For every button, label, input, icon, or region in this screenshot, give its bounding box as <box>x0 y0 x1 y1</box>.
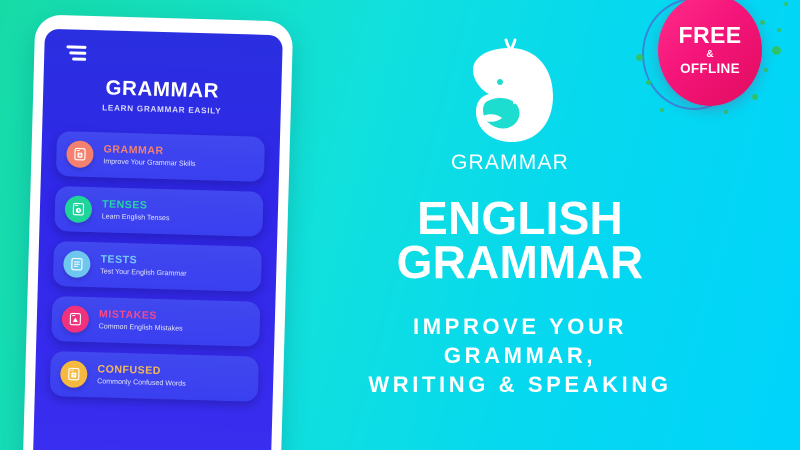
hamburger-line <box>72 58 86 61</box>
hamburger-line <box>69 52 86 55</box>
subhead-line-1: IMPROVE YOUR <box>342 312 698 341</box>
decor-dot <box>724 110 728 114</box>
list-item[interactable]: ? CONFUSED Commonly Confused Words <box>50 351 259 402</box>
list-item-text: TESTS Test Your English Grammar <box>100 254 187 278</box>
svg-text:?: ? <box>72 373 75 378</box>
headline-line-1: ENGLISH <box>350 196 690 240</box>
promo-banner: GRAMMAR LEARN GRAMMAR EASILY A GRAMMAR <box>0 0 800 450</box>
list-item[interactable]: TENSES Learn English Tenses <box>54 186 263 237</box>
phone-mockup: GRAMMAR LEARN GRAMMAR EASILY A GRAMMAR <box>22 14 293 450</box>
decor-dot <box>752 94 758 100</box>
decor-dot <box>660 108 664 112</box>
decor-dot <box>636 54 643 61</box>
decor-dot <box>760 20 765 25</box>
page-subtitle: IMPROVE YOUR GRAMMAR, WRITING & SPEAKING <box>342 312 698 399</box>
subhead-line-3: WRITING & SPEAKING <box>342 370 698 399</box>
book-lines-icon <box>63 250 91 278</box>
headline-line-2: GRAMMAR <box>350 240 690 284</box>
hamburger-line <box>66 45 86 48</box>
list-item-text: TENSES Learn English Tenses <box>102 199 170 223</box>
list-item-desc: Test Your English Grammar <box>100 267 187 278</box>
list-item[interactable]: TESTS Test Your English Grammar <box>53 241 262 292</box>
book-clock-icon <box>65 195 93 223</box>
list-item-text: CONFUSED Commonly Confused Words <box>97 364 186 388</box>
list-item-desc: Common English Mistakes <box>99 322 183 333</box>
decor-dot <box>784 2 788 6</box>
list-item-title: TENSES <box>102 199 170 213</box>
list-item-text: GRAMMAR Improve Your Grammar Skills <box>103 144 196 168</box>
badge-free-label: FREE <box>679 24 742 47</box>
badge-ampersand: & <box>706 47 713 62</box>
book-question-icon: ? <box>60 360 88 388</box>
logo-wordmark: GRAMMAR <box>400 151 620 175</box>
list-item-title: MISTAKES <box>99 309 183 323</box>
decor-dot <box>777 28 781 32</box>
decor-dot <box>646 80 651 85</box>
status-badge: FREE & OFFLINE <box>636 0 800 130</box>
book-warning-icon <box>61 305 89 333</box>
hamburger-icon[interactable] <box>66 45 88 62</box>
whale-icon <box>450 22 570 150</box>
decor-dot <box>764 68 768 72</box>
phone-screen: GRAMMAR LEARN GRAMMAR EASILY A GRAMMAR <box>32 29 283 450</box>
list-item-title: CONFUSED <box>97 364 186 378</box>
list-item-title: GRAMMAR <box>103 144 196 158</box>
list-item-title: TESTS <box>100 254 187 268</box>
list-item[interactable]: MISTAKES Common English Mistakes <box>51 296 260 347</box>
list-item-desc: Commonly Confused Words <box>97 377 186 388</box>
badge-offline-label: OFFLINE <box>680 62 740 76</box>
subhead-line-2: GRAMMAR, <box>342 341 698 370</box>
list-item[interactable]: A GRAMMAR Improve Your Grammar Skills <box>56 131 265 182</box>
list-item-desc: Improve Your Grammar Skills <box>103 157 195 168</box>
list-item-text: MISTAKES Common English Mistakes <box>99 309 184 333</box>
page-title: ENGLISH GRAMMAR <box>350 196 690 284</box>
badge-circle: FREE & OFFLINE <box>658 0 762 106</box>
decor-dot <box>772 46 781 55</box>
list-item-desc: Learn English Tenses <box>102 212 170 222</box>
app-screen-title: GRAMMAR <box>43 75 282 106</box>
book-letter-a-icon: A <box>66 140 94 168</box>
app-menu-list: A GRAMMAR Improve Your Grammar Skills <box>35 131 280 403</box>
brand-logo: GRAMMAR <box>400 22 620 175</box>
